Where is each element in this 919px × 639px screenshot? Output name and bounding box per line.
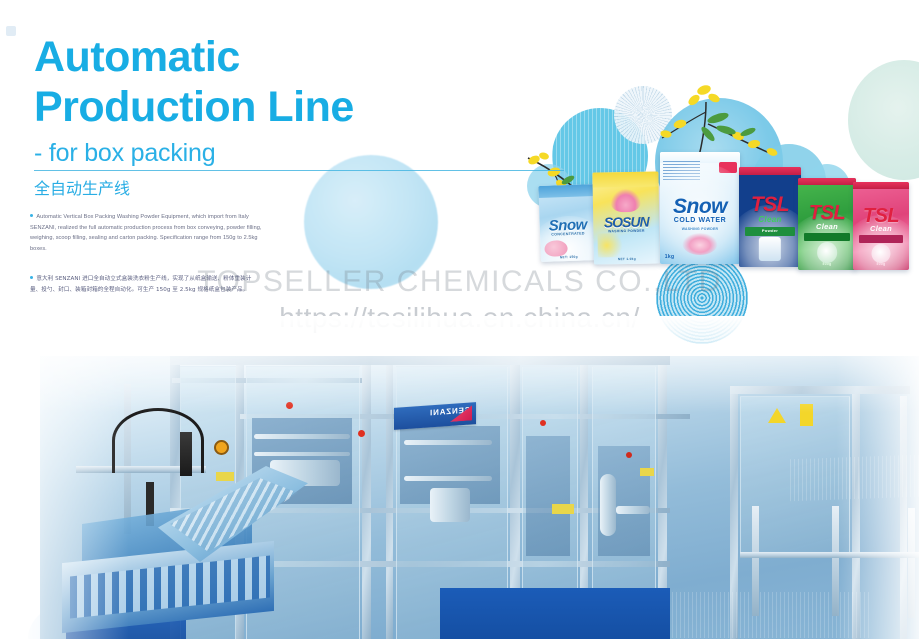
poster-canvas: Snow CONCENTRATED NET: 150g SOSUN WASHIN… [0,0,919,639]
page-title: Automatic Production Line [34,32,514,132]
product-box-tsl-green: TSL Clean 500g [798,178,856,270]
bullet-icon-chinese [30,276,33,279]
product-sub: COLD WATER [660,217,740,224]
product-box-sosun: SOSUN WASHING POWDER NET 1.0kg [592,171,660,264]
heading-block: Automatic Production Line - for box pack… [34,32,514,168]
product-box-snow-cold-water: Snow COLD WATER WASHING POWDER 1kg [660,152,740,264]
page-subtitle: - for box packing [34,138,514,168]
top-left-artifact [6,26,16,36]
laser-warning-icon [768,408,786,423]
machine-photo [0,316,919,639]
chinese-title: 全自动生产线 [34,178,130,200]
machine-base-panel [440,588,670,639]
title-line-2: Production Line [34,82,514,132]
chinese-paragraph: 意大利 SENZANI 进口全自动立式盒装洗衣粉生产线，实现了从纸盒输送、粉体重… [30,274,262,295]
english-paragraph: Automatic Vertical Box Packing Washing P… [30,212,262,254]
product-sub: Clean [739,215,801,224]
product-weight: 500g [798,262,856,266]
watercolor-blob-mint [848,60,919,180]
product-weight: NET 1.0kg [594,257,660,262]
product-name: TSL [739,193,801,217]
product-sub: Clean [798,222,856,231]
product-weight: Powder [739,228,801,233]
product-name: Snow [660,195,740,219]
product-weight: 1kg [665,254,675,260]
product-box-tsl-pink: TSL Clean 500g [853,182,909,270]
watercolor-blob-main [304,155,438,289]
product-sub: Clean [853,224,909,233]
english-paragraph-text: Automatic Vertical Box Packing Washing P… [30,214,262,252]
title-divider [34,170,564,171]
product-box-tsl-blue: TSL Clean Powder [739,167,801,267]
title-line-1: Automatic [34,33,240,81]
chinese-paragraph-text: 意大利 SENZANI 进口全自动立式盒装洗衣粉生产线，实现了从纸盒输送、粉体重… [30,276,251,293]
product-box-snow-blue: Snow CONCENTRATED NET: 150g [538,184,597,262]
product-weight: 500g [853,262,909,266]
bullet-icon-english [30,214,33,217]
